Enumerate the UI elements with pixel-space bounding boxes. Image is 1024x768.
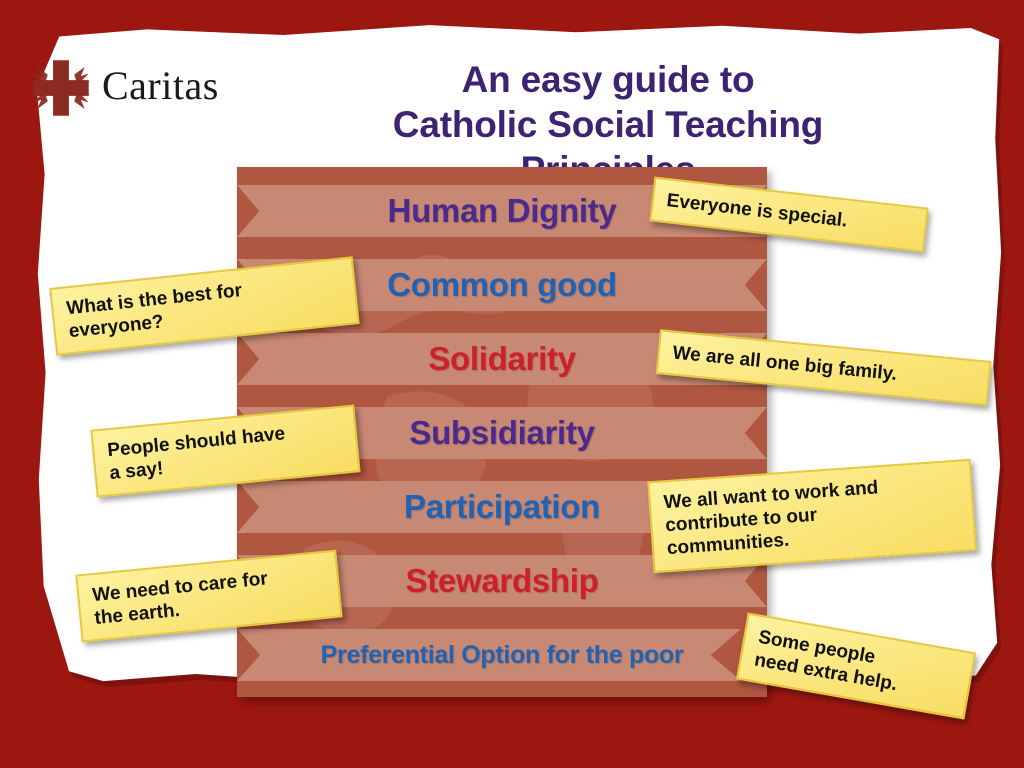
caritas-cross-icon bbox=[28, 55, 94, 121]
caritas-wordmark: Caritas bbox=[102, 66, 219, 110]
caritas-logo: Caritas bbox=[28, 55, 219, 121]
principle-label: Subsidiarity bbox=[409, 414, 594, 452]
principle-label: Human Dignity bbox=[388, 192, 617, 230]
principle-label: Preferential Option for the poor bbox=[321, 641, 684, 670]
principle-label: Stewardship bbox=[406, 562, 599, 600]
title-line-1: An easy guide to bbox=[248, 57, 968, 102]
principle-row[interactable]: Preferential Option for the poor bbox=[237, 625, 767, 685]
title-line-2: Catholic Social Teaching bbox=[248, 102, 968, 147]
principle-label: Solidarity bbox=[428, 340, 575, 378]
slide: Caritas An easy guide to Catholic Social… bbox=[0, 0, 1024, 768]
principle-label: Participation bbox=[404, 488, 600, 526]
principle-label: Common good bbox=[387, 266, 617, 304]
